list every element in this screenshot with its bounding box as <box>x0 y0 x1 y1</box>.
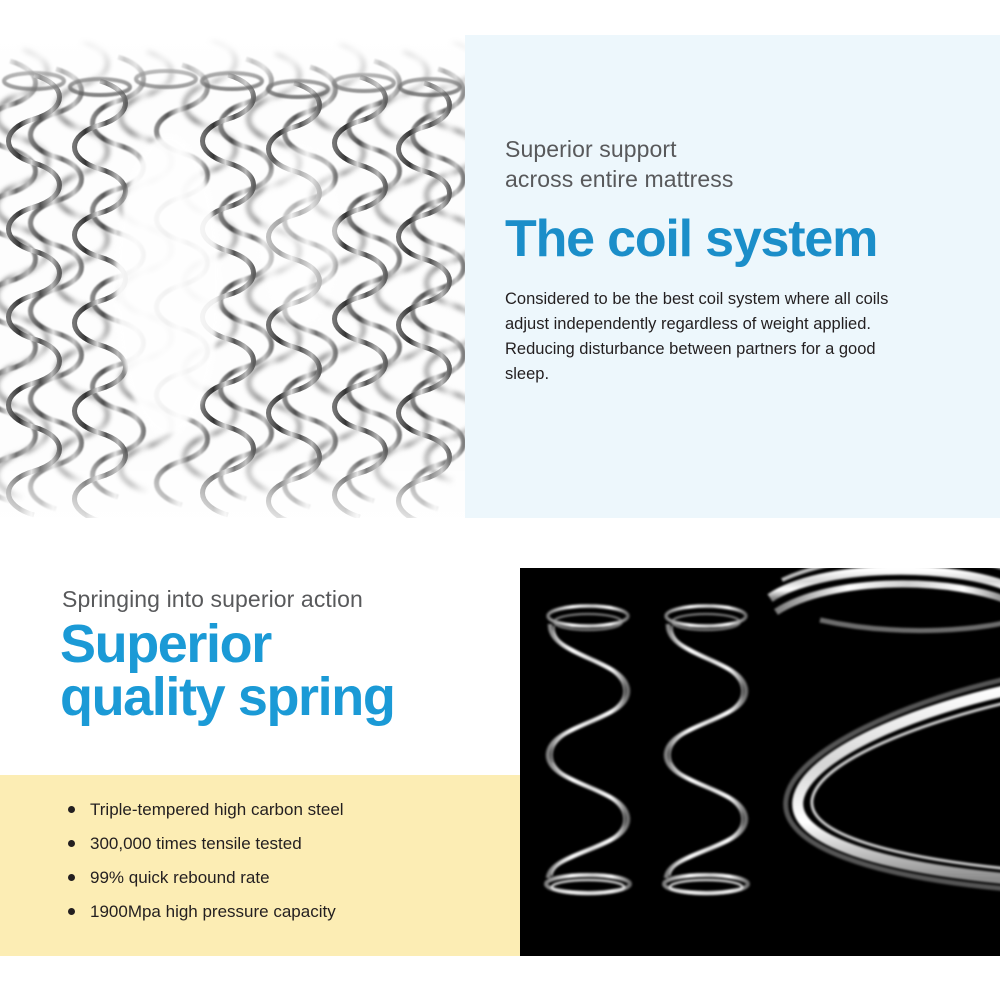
coil-system-copy: Superior support across entire mattress … <box>505 135 955 387</box>
hourglass-springs-photo <box>520 568 1000 956</box>
coil-springs-photo <box>0 35 465 518</box>
superior-spring-text-column: Springing into superior action Superior … <box>0 568 520 956</box>
coil-system-eyebrow: Superior support across entire mattress <box>505 135 955 195</box>
list-item: 1900Mpa high pressure capacity <box>62 903 344 920</box>
coil-system-text-panel: Superior support across entire mattress … <box>465 35 1000 518</box>
list-item: 99% quick rebound rate <box>62 869 344 886</box>
spring-features-list: Triple-tempered high carbon steel 300,00… <box>62 801 344 937</box>
superior-spring-eyebrow: Springing into superior action <box>62 586 363 613</box>
coil-system-body: Considered to be the best coil system wh… <box>505 287 905 387</box>
list-item: 300,000 times tensile tested <box>62 835 344 852</box>
superior-spring-banner: Springing into superior action Superior … <box>0 568 1000 956</box>
hourglass-springs-illustration <box>520 568 1000 956</box>
coil-system-banner: Superior support across entire mattress … <box>0 35 1000 518</box>
coil-system-headline: The coil system <box>505 213 955 265</box>
coil-springs-illustration <box>0 35 465 518</box>
spring-features-panel: Triple-tempered high carbon steel 300,00… <box>0 775 520 956</box>
superior-spring-headline: Superior quality spring <box>60 618 394 724</box>
list-item: Triple-tempered high carbon steel <box>62 801 344 818</box>
